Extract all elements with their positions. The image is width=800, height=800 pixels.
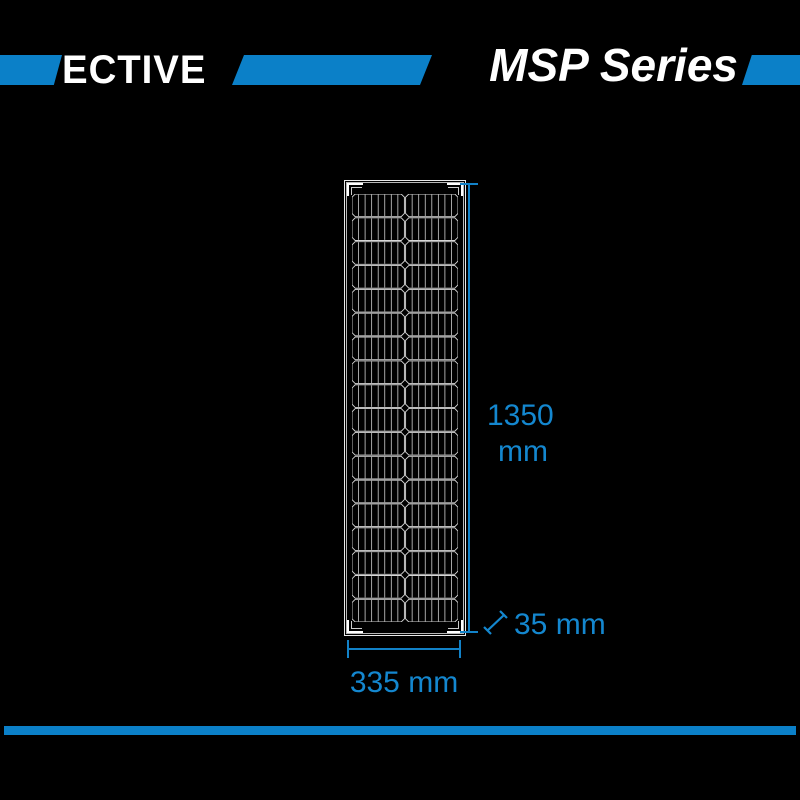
product-dimension-diagram: ECTIVE MSP Series 1350 mm 335 mm — [0, 0, 800, 800]
solar-panel-illustration — [344, 180, 466, 636]
frame-corner-inner-bottom-right — [448, 621, 459, 629]
height-dimension-cap-top — [460, 183, 478, 185]
cell-grid-svg — [352, 194, 458, 622]
diagonal-thickness-icon — [483, 610, 509, 641]
width-dimension-cap-right — [459, 640, 461, 658]
height-unit: mm — [487, 434, 554, 470]
thickness-value: 35 mm — [514, 608, 606, 642]
height-dimension-line — [468, 183, 470, 633]
width-dimension-line — [347, 648, 461, 650]
header-accent-bar-middle — [232, 55, 432, 85]
header-accent-bar-left — [0, 55, 62, 85]
width-dimension-label: 335 mm — [347, 665, 461, 701]
frame-corner-inner-bottom-left — [351, 621, 362, 629]
height-dimension-cap-bottom — [460, 631, 478, 633]
thickness-annotation: 35 mm — [483, 608, 606, 642]
header-accent-bar-right — [742, 55, 800, 85]
page-title: MSP Series — [489, 38, 738, 92]
height-dimension-label: 1350 mm — [487, 398, 554, 470]
footer-accent-bar — [4, 726, 796, 735]
brand-logo-ective: ECTIVE — [62, 48, 206, 92]
height-value: 1350 — [487, 398, 554, 434]
width-dimension-cap-left — [347, 640, 349, 658]
photovoltaic-cell-grid — [352, 194, 458, 622]
